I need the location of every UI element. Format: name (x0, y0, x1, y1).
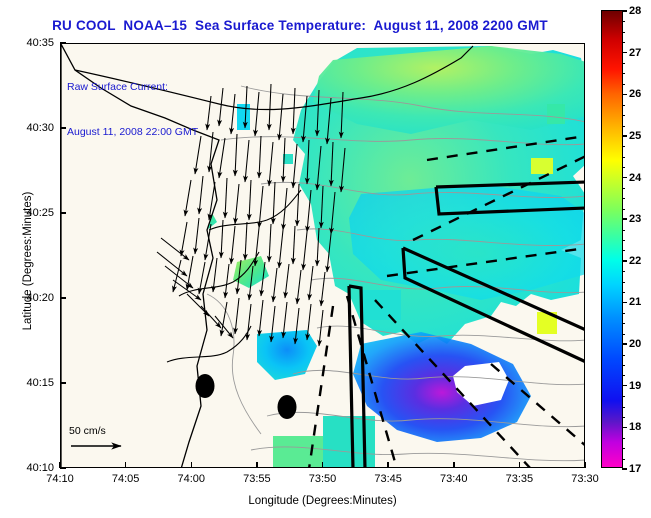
current-scale-legend: 50 cm/s (69, 425, 131, 457)
x-axis-tick (256, 462, 258, 468)
y-axis-title: Latitude (Degrees:Minutes) (22, 161, 34, 361)
colorbar-minor-tick (622, 323, 625, 324)
colorbar-label: 20 (629, 338, 641, 350)
x-axis-label: 73:30 (571, 473, 599, 485)
colorbar-minor-tick (622, 209, 625, 210)
colorbar-label: 28 (629, 5, 641, 17)
sst-pixel (547, 104, 565, 124)
colorbar-minor-tick (622, 126, 625, 127)
colorbar-minor-tick (622, 407, 625, 408)
x-axis-tick (453, 462, 455, 468)
arrow-right-icon (69, 440, 131, 452)
sst-map-plot: Raw Surface Current: August 11, 2008 22:… (60, 43, 585, 468)
colorbar-minor-tick (622, 146, 625, 147)
colorbar-minor-tick (622, 167, 625, 168)
colorbar-label: 23 (629, 213, 641, 225)
x-axis-label: 73:50 (309, 473, 337, 485)
colorbar-tick (622, 385, 627, 387)
colorbar-gradient (602, 11, 622, 467)
colorbar-minor-tick (622, 375, 625, 376)
colorbar-tick (622, 218, 627, 220)
colorbar-label: 17 (629, 463, 641, 475)
colorbar-minor-tick (622, 21, 625, 22)
station-marker[interactable] (196, 374, 215, 398)
colorbar-minor-tick (622, 448, 625, 449)
y-axis-label: 40:35 (2, 37, 54, 49)
scale-legend-label: 50 cm/s (69, 425, 131, 437)
colorbar-minor-tick (622, 250, 625, 251)
page-title: RU COOL NOAA–15 Sea Surface Temperature:… (0, 18, 600, 33)
colorbar-minor-tick (622, 271, 625, 272)
y-axis-label: 40:10 (2, 462, 54, 474)
colorbar-label: 22 (629, 255, 641, 267)
colorbar-minor-tick (622, 115, 625, 116)
x-axis-tick (125, 462, 127, 468)
colorbar-label: 25 (629, 130, 641, 142)
x-axis-label: 74:05 (112, 473, 140, 485)
colorbar-tick (622, 177, 627, 179)
annotation-line-2: August 11, 2008 22:00 GMT (67, 125, 198, 140)
x-axis-tick (584, 462, 586, 468)
x-axis-title: Longitude (Degrees:Minutes) (60, 495, 585, 507)
current-annotation: Raw Surface Current: August 11, 2008 22:… (67, 50, 198, 170)
colorbar-minor-tick (622, 313, 625, 314)
colorbar-minor-tick (622, 355, 625, 356)
station-marker[interactable] (278, 395, 297, 419)
sst-field (173, 46, 584, 467)
y-axis-tick (60, 212, 66, 214)
colorbar-minor-tick (622, 240, 625, 241)
sst-pixel (323, 416, 375, 467)
colorbar-label: 18 (629, 421, 641, 433)
colorbar-label: 24 (629, 172, 641, 184)
x-axis-label: 73:55 (243, 473, 271, 485)
x-axis-label: 73:40 (440, 473, 468, 485)
y-axis-tick (60, 382, 66, 384)
colorbar-tick (622, 94, 627, 96)
annotation-line-1: Raw Surface Current: (67, 80, 198, 95)
colorbar-label: 26 (629, 88, 641, 100)
colorbar-minor-tick (622, 292, 625, 293)
sst-pixel (531, 158, 553, 174)
colorbar-minor-tick (622, 188, 625, 189)
colorbar-minor-tick (622, 84, 625, 85)
colorbar-minor-tick (622, 282, 625, 283)
x-axis-tick (387, 462, 389, 468)
y-axis-tick (60, 467, 66, 469)
colorbar-minor-tick (622, 157, 625, 158)
colorbar-minor-tick (622, 438, 625, 439)
colorbar-minor-tick (622, 42, 625, 43)
x-axis-tick (191, 462, 193, 468)
colorbar-minor-tick (622, 230, 625, 231)
y-axis-tick (60, 127, 66, 129)
colorbar-tick (622, 468, 627, 470)
colorbar-minor-tick (622, 73, 625, 74)
colorbar-minor-tick (622, 365, 625, 366)
x-axis-label: 74:10 (46, 473, 74, 485)
colorbar-tick (622, 135, 627, 137)
colorbar-label: 21 (629, 296, 641, 308)
colorbar-tick (622, 52, 627, 54)
x-axis-tick (519, 462, 521, 468)
colorbar-minor-tick (622, 32, 625, 33)
colorbar-tick (622, 260, 627, 262)
colorbar-minor-tick (622, 198, 625, 199)
x-axis-label: 73:35 (506, 473, 534, 485)
sst-warm-north (313, 46, 584, 134)
colorbar-tick (622, 343, 627, 345)
colorbar-tick (622, 302, 627, 304)
y-axis-tick (60, 42, 66, 44)
colorbar-minor-tick (622, 417, 625, 418)
x-axis-tick (322, 462, 324, 468)
x-axis-label: 74:00 (177, 473, 205, 485)
y-axis-label: 40:30 (2, 122, 54, 134)
colorbar-minor-tick (622, 396, 625, 397)
colorbar-minor-tick (622, 105, 625, 106)
y-axis-label: 40:15 (2, 377, 54, 389)
colorbar-label: 27 (629, 47, 641, 59)
colorbar-minor-tick (622, 63, 625, 64)
colorbar-minor-tick (622, 459, 625, 460)
colorbar-tick (622, 10, 627, 12)
colorbar-label: 19 (629, 380, 641, 392)
y-axis-tick (60, 297, 66, 299)
x-axis-label: 73:45 (374, 473, 402, 485)
colorbar-tick (622, 427, 627, 429)
sst-nearshore-strip (257, 330, 317, 380)
colorbar: 171819202122232425262728 (601, 10, 623, 468)
colorbar-minor-tick (622, 334, 625, 335)
